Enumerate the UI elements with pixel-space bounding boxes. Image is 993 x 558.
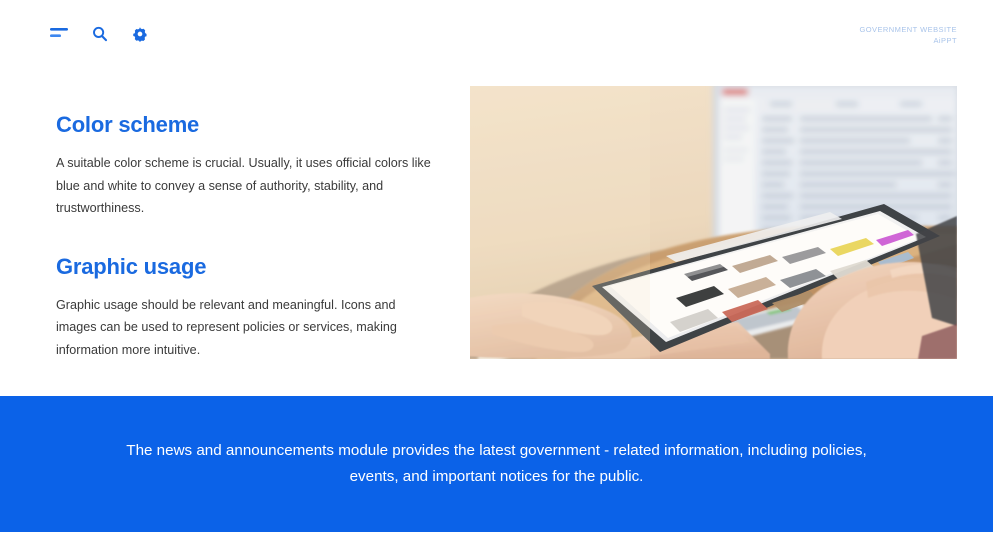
section-body: Graphic usage should be relevant and mea… — [56, 294, 431, 361]
toolbar-icon-group — [48, 22, 151, 45]
announcement-banner: The news and announcements module provid… — [0, 396, 993, 532]
section-title: Graphic usage — [56, 254, 431, 280]
gear-icon[interactable] — [128, 22, 151, 45]
section-color-scheme: Color scheme A suitable color scheme is … — [56, 112, 431, 220]
slide-root: GOVERNMENT WEBSITE AiPPT Color scheme A … — [0, 0, 993, 558]
photo-illustration — [470, 86, 957, 359]
section-body: A suitable color scheme is crucial. Usua… — [56, 152, 431, 219]
top-bar: GOVERNMENT WEBSITE AiPPT — [0, 0, 993, 70]
feature-photo — [470, 86, 957, 359]
list-lines-icon[interactable] — [48, 22, 71, 45]
text-content-column: Color scheme A suitable color scheme is … — [56, 112, 431, 361]
section-title: Color scheme — [56, 112, 431, 138]
brand-line-primary: GOVERNMENT WEBSITE — [859, 25, 957, 36]
search-icon[interactable] — [88, 22, 111, 45]
announcement-banner-text: The news and announcements module provid… — [117, 438, 877, 490]
section-graphic-usage: Graphic usage Graphic usage should be re… — [56, 254, 431, 362]
brand-line-secondary: AiPPT — [859, 36, 957, 47]
brand-block: GOVERNMENT WEBSITE AiPPT — [859, 25, 957, 47]
